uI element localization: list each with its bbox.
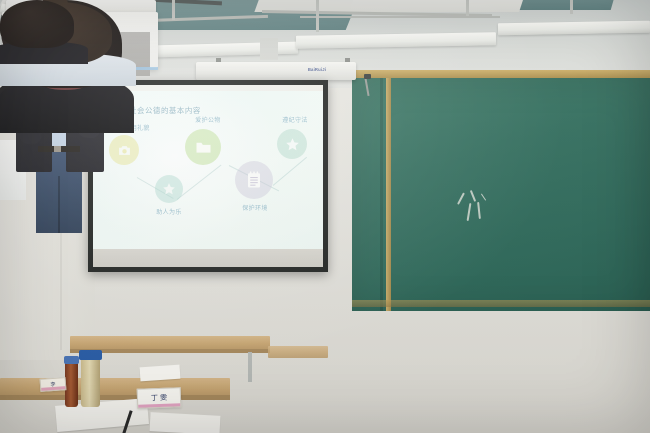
- slide-node-4-label: 遵纪守法: [260, 115, 323, 124]
- thermos-bottle-cap: [79, 350, 102, 360]
- worksheet: [150, 412, 221, 433]
- student-desk: [70, 336, 270, 350]
- classroom-scene: BaiRuiJi 二、社会公德的基本内容 文明礼貌: [0, 0, 650, 433]
- ceiling-hanger-4: [466, 0, 469, 16]
- thermos-bottle: [81, 357, 100, 407]
- water-bottle-cap: [64, 356, 79, 364]
- camera-icon: [109, 135, 139, 165]
- lecturer-jeans-seam: [58, 176, 60, 233]
- student-desk: [268, 346, 328, 358]
- student-desk: [0, 378, 230, 396]
- slide-node-2: 爱护公物: [185, 129, 221, 165]
- ceiling-hanger-2: [172, 0, 175, 20]
- chalk-writing: [458, 190, 498, 230]
- ceiling-light-right: [498, 21, 650, 36]
- ceiling-rail-d: [300, 16, 500, 18]
- desk-leg: [248, 352, 252, 382]
- slide-node-3-label: 保护环境: [220, 203, 290, 212]
- notepad-icon: [235, 161, 273, 199]
- screen-brand-label: BaiRuiJi: [296, 66, 338, 74]
- chalkboard: [352, 78, 650, 311]
- ceiling-light-joint: [260, 38, 278, 60]
- ceiling-hanger-5: [570, 0, 573, 14]
- chalkboard-divider-shadow: [380, 78, 383, 311]
- name-card-stripe: [41, 386, 65, 391]
- name-card: 丁 雯: [137, 387, 182, 409]
- slide-node-1-label: 助人为乐: [134, 207, 204, 216]
- worksheet: [140, 365, 181, 382]
- water-bottle: [65, 361, 78, 407]
- chalkboard-divider: [386, 78, 391, 311]
- slide-node-0: 文明礼貌: [109, 135, 139, 165]
- chalkboard-bottom-trim: [352, 300, 650, 307]
- name-card: 李: [40, 377, 67, 392]
- folder-icon: [185, 129, 221, 165]
- slide-node-2-label: 爱护公物: [173, 115, 243, 124]
- lecturer-belt-buckle: [54, 146, 61, 152]
- student-far-right-hair: [0, 0, 74, 48]
- student-desk-edge: [0, 395, 230, 400]
- screen-lower-band: [93, 249, 323, 267]
- star-icon: [155, 175, 183, 203]
- ceiling-hanger-3: [316, 0, 319, 32]
- camera-icon: [364, 74, 371, 79]
- ceiling-duct-white-right: [349, 0, 525, 12]
- star-icon: [277, 129, 307, 159]
- slide-node-4: 遵纪守法: [277, 129, 307, 159]
- name-card-stripe: [138, 403, 180, 407]
- ceiling-light-mid: [296, 32, 496, 48]
- slide-node-3: 保护环境: [235, 161, 273, 199]
- name-card-text: 丁 雯: [151, 393, 168, 404]
- slide-node-1: 助人为乐: [155, 175, 183, 203]
